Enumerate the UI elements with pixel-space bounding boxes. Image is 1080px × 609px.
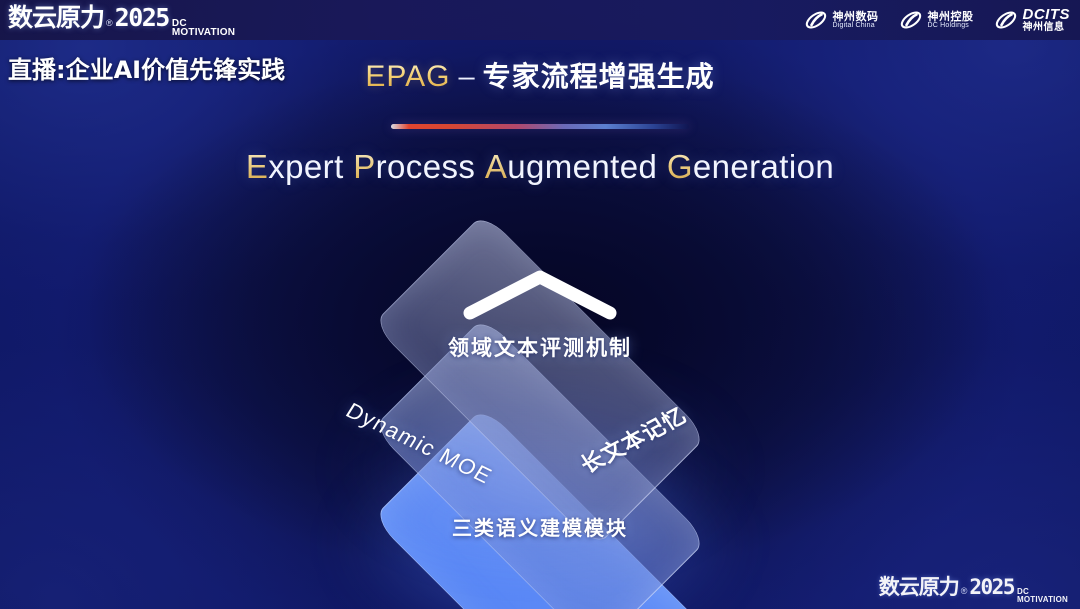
brand-registered-mark: ® — [106, 18, 113, 28]
partner-logo-digital-china: 神州数码 Digital China — [804, 8, 879, 32]
watermark-registered-mark: ® — [961, 586, 968, 596]
title-separator: – — [458, 61, 474, 93]
brand-dc-line2: MOTIVATION — [172, 28, 235, 37]
diagram-layer-top-label: 领域文本评测机制 — [448, 332, 632, 362]
partner-name-cn: 神州信息 — [1023, 23, 1071, 34]
subtitle-initial-e: E — [246, 148, 268, 185]
title-chinese: 专家流程增强生成 — [483, 60, 715, 93]
swirl-logo-icon — [899, 8, 923, 32]
subtitle-word-process: rocess — [376, 148, 476, 185]
subtitle-word-generation: eneration — [693, 148, 834, 185]
brand-dc-motivation: DC MOTIVATION — [172, 19, 235, 37]
partner-logo-text: DCITS 神州信息 — [1023, 7, 1071, 33]
watermark-dc-line2: MOTIVATION — [1017, 596, 1068, 603]
partner-logo-group: 神州数码 Digital China 神州控股 DC Holdings — [804, 3, 1071, 37]
partner-logo-dcits: DCITS 神州信息 — [994, 7, 1071, 33]
brand-logo: 数云原力®2025 DC MOTIVATION — [8, 5, 235, 37]
watermark-name-cn: 数云原力 — [879, 577, 959, 598]
subtitle-initial-a: A — [485, 148, 507, 185]
partner-name-cn: 神州控股 — [928, 11, 974, 23]
swirl-logo-icon — [994, 8, 1018, 32]
partner-logo-text: 神州控股 DC Holdings — [928, 11, 974, 30]
layer-stack-diagram: 领域文本评测机制 Dynamic MOE 长文本记忆 三类语义建模模块 — [290, 228, 790, 578]
slide-canvas: 数云原力®2025 DC MOTIVATION 直播:企业AI价值先锋实践 神州… — [0, 0, 1080, 609]
partner-logo-text: 神州数码 Digital China — [833, 11, 879, 30]
subtitle-initial-p: P — [353, 148, 375, 185]
title-acronym: EPAG — [365, 60, 450, 93]
chevron-up-icon — [460, 266, 620, 324]
subtitle-initial-g: G — [667, 148, 693, 185]
watermark-dc-motivation: DC MOTIVATION — [1017, 588, 1068, 603]
title-divider-rule — [391, 124, 689, 129]
watermark-logo: 数云原力®2025 DC MOTIVATION — [879, 577, 1068, 603]
subtitle-word-expert: xpert — [268, 148, 343, 185]
partner-name-cn: 神州数码 — [833, 11, 879, 23]
subtitle-word-augmented: ugmented — [507, 148, 657, 185]
swirl-logo-icon — [804, 8, 828, 32]
brand-name-cn: 数云原力 — [8, 5, 104, 30]
partner-logo-dc-holdings: 神州控股 DC Holdings — [899, 8, 974, 32]
live-stream-title: 直播:企业AI价值先锋实践 — [8, 50, 285, 85]
brand-year: 2025 — [115, 5, 169, 30]
page-subtitle: Expert Process Augmented Generation — [0, 148, 1080, 186]
partner-name-en: DC Holdings — [928, 22, 974, 29]
diagram-layer-bottom-label: 三类语义建模模块 — [452, 512, 628, 541]
watermark-year: 2025 — [969, 577, 1014, 598]
partner-name-en: Digital China — [833, 22, 879, 29]
partner-name-en: DCITS — [1023, 7, 1071, 23]
